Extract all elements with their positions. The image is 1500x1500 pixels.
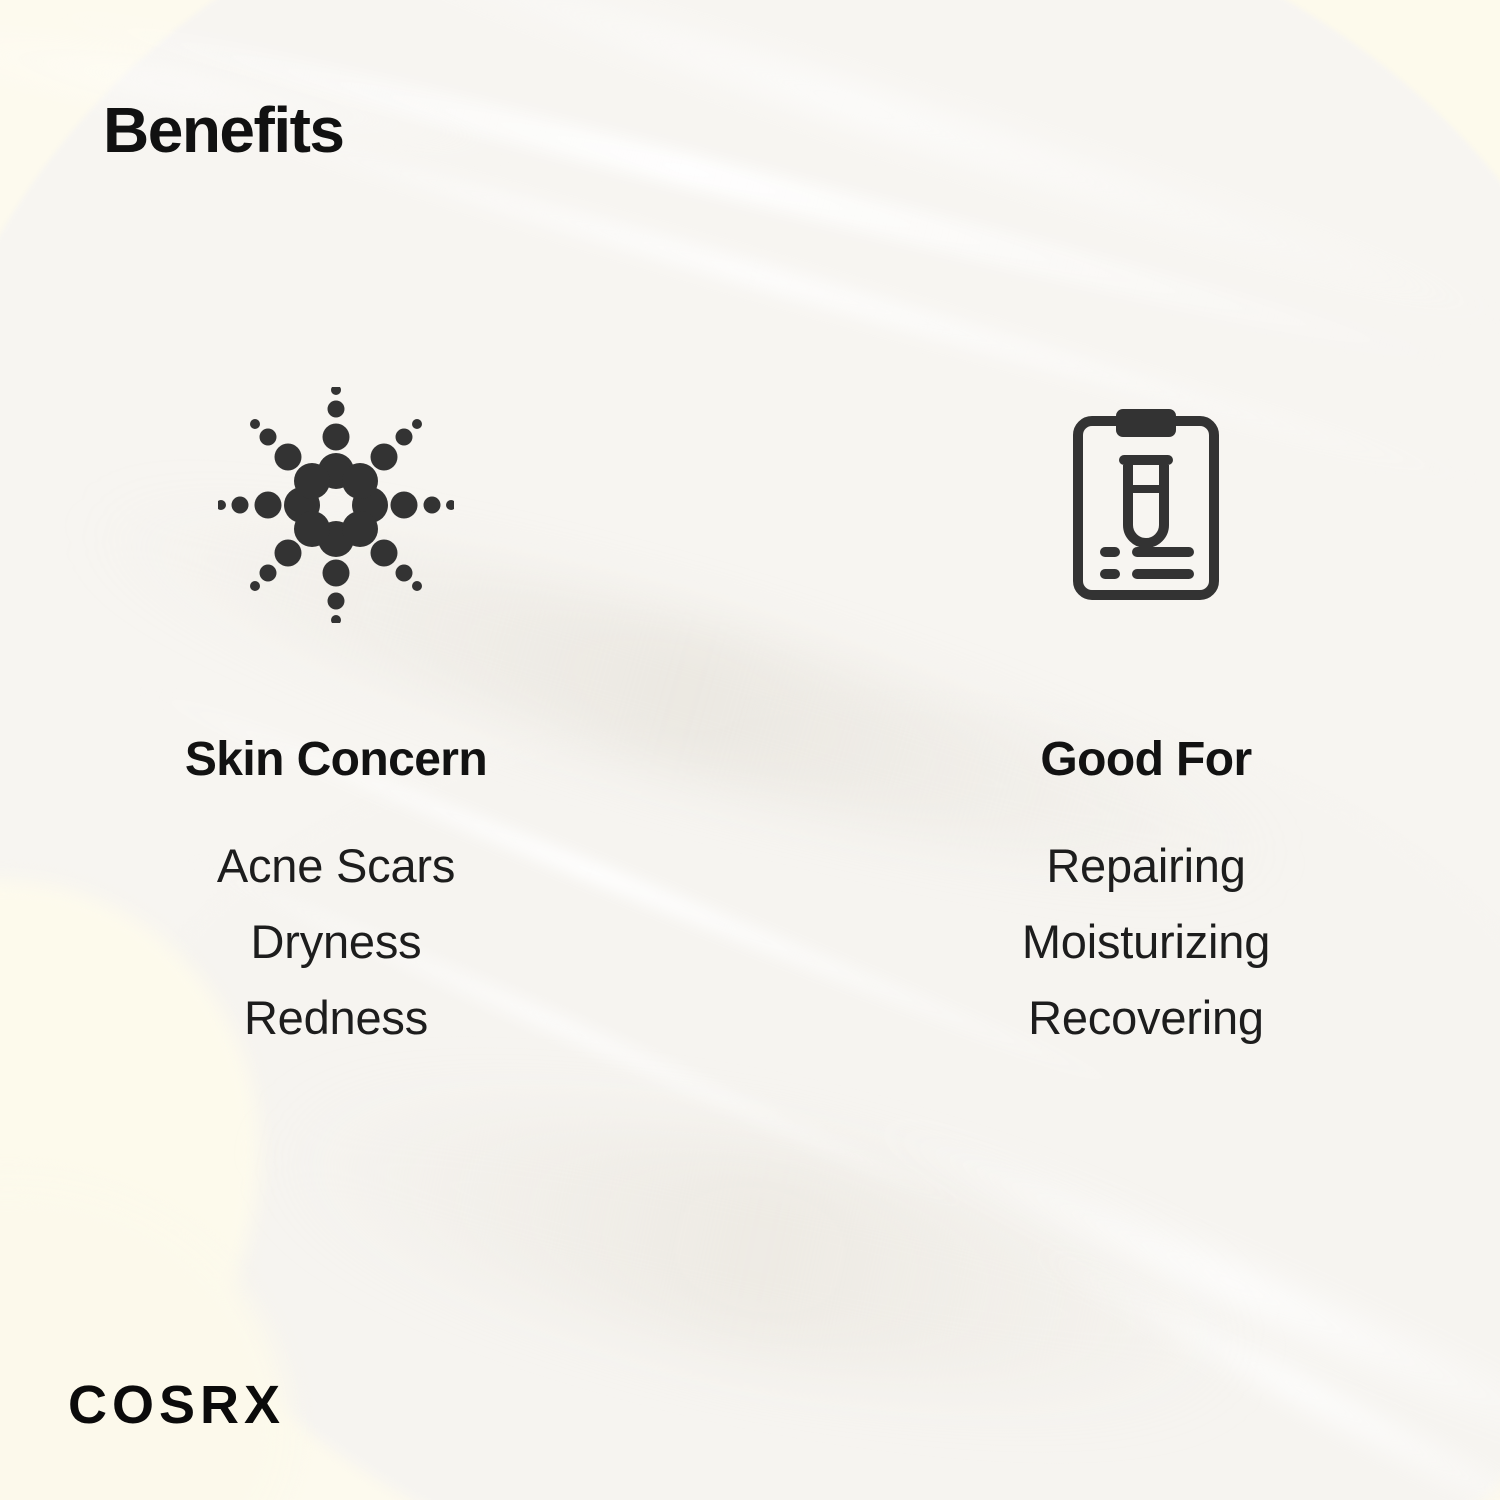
list-item: Recovering <box>1022 980 1270 1056</box>
list-item: Acne Scars <box>217 828 455 904</box>
starburst-dots-icon <box>218 380 454 630</box>
list-item: Repairing <box>1022 828 1270 904</box>
benefits-columns: Skin Concern Acne Scars Dryness Redness <box>0 380 1500 1072</box>
list-item: Redness <box>217 980 455 1056</box>
content-layer: Benefits <box>0 0 1500 1500</box>
list-item: Moisturizing <box>1022 904 1270 980</box>
clipboard-test-tube-icon <box>1070 380 1222 630</box>
page-title: Benefits <box>103 95 344 165</box>
brand-logo-cosrx: COSRX <box>68 1378 285 1432</box>
benefit-column-good-for: Good For Repairing Moisturizing Recoveri… <box>750 380 1500 1072</box>
benefits-infographic: Benefits <box>0 0 1500 1500</box>
benefit-column-skin-concern: Skin Concern Acne Scars Dryness Redness <box>0 380 750 1072</box>
column-heading-skin-concern: Skin Concern <box>185 736 487 784</box>
good-for-list: Repairing Moisturizing Recovering <box>1022 828 1270 1056</box>
skin-concern-list: Acne Scars Dryness Redness <box>217 828 455 1056</box>
column-heading-good-for: Good For <box>1040 736 1251 784</box>
list-item: Dryness <box>217 904 455 980</box>
